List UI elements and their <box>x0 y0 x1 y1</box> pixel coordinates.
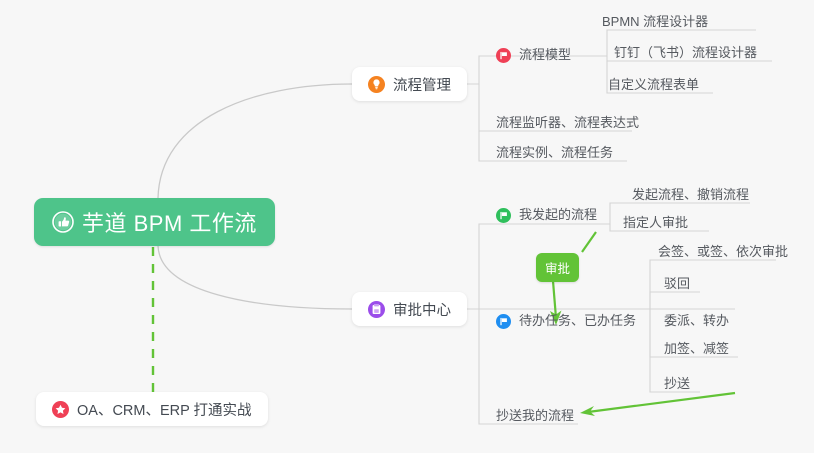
node-custom-form[interactable]: 自定义流程表单 <box>602 74 705 96</box>
node-todo-done-tasks[interactable]: 待办任务、已办任务 <box>490 310 642 332</box>
node-label: 流程监听器、流程表达式 <box>496 112 639 131</box>
node-label: 流程模型 <box>519 44 571 63</box>
node-label: 抄送 <box>664 373 690 392</box>
thumbs-up-icon <box>52 211 74 233</box>
flag-icon-blue <box>496 314 511 329</box>
root-node[interactable]: 芋道 BPM 工作流 <box>34 198 275 246</box>
node-label: 流程实例、流程任务 <box>496 142 613 161</box>
node-label: 加签、减签 <box>664 338 729 357</box>
node-add-remove-sign[interactable]: 加签、减签 <box>658 338 735 360</box>
node-label: 钉钉（飞书）流程设计器 <box>614 42 757 61</box>
node-label: 待办任务、已办任务 <box>519 310 636 329</box>
branch-approval-center[interactable]: 审批中心 <box>352 292 467 326</box>
mindmap-canvas[interactable]: 芋道 BPM 工作流 流程管理 流程模型 BPMN 流程设计器 钉钉（飞书）流程 <box>0 0 814 453</box>
node-reject[interactable]: 驳回 <box>658 273 696 295</box>
footer-node-integration[interactable]: OA、CRM、ERP 打通实战 <box>36 392 268 426</box>
link-root-to-process-management <box>158 84 352 198</box>
star-icon <box>52 401 69 418</box>
node-start-revoke[interactable]: 发起流程、撤销流程 <box>626 184 755 206</box>
node-cc-to-me-processes[interactable]: 抄送我的流程 <box>490 405 580 427</box>
lightbulb-icon <box>368 76 385 93</box>
node-label: 抄送我的流程 <box>496 405 574 424</box>
node-instance-task[interactable]: 流程实例、流程任务 <box>490 142 619 164</box>
node-label: 驳回 <box>664 273 690 292</box>
footer-node-label: OA、CRM、ERP 打通实战 <box>77 399 252 420</box>
node-label: 会签、或签、依次审批 <box>658 241 788 260</box>
node-delegate-transfer[interactable]: 委派、转办 <box>658 310 735 332</box>
node-process-model[interactable]: 流程模型 <box>490 44 577 66</box>
link-root-to-approval-center <box>158 246 352 309</box>
node-label: 我发起的流程 <box>519 204 597 223</box>
node-assignee-approve[interactable]: 指定人审批 <box>617 212 694 234</box>
node-listener-expression[interactable]: 流程监听器、流程表达式 <box>490 112 645 134</box>
node-bpmn-designer[interactable]: BPMN 流程设计器 <box>596 11 714 33</box>
green-arrow-cc-to-cc-mine <box>580 393 735 416</box>
approval-badge[interactable]: 审批 <box>536 253 579 282</box>
node-label: 指定人审批 <box>623 212 688 231</box>
node-dingtalk-designer[interactable]: 钉钉（飞书）流程设计器 <box>608 42 763 64</box>
node-sign-types[interactable]: 会签、或签、依次审批 <box>652 241 794 263</box>
link-todo-to-signtypes <box>636 260 776 309</box>
node-my-started-processes[interactable]: 我发起的流程 <box>490 204 603 226</box>
node-label: 发起流程、撤销流程 <box>632 184 749 203</box>
flag-icon-red <box>496 48 511 63</box>
branch-label: 审批中心 <box>393 299 451 320</box>
node-label: 委派、转办 <box>664 310 729 329</box>
clipboard-icon <box>368 301 385 318</box>
node-label: BPMN 流程设计器 <box>602 11 708 30</box>
flag-icon-green <box>496 208 511 223</box>
branch-label: 流程管理 <box>393 74 451 95</box>
node-label: 自定义流程表单 <box>608 74 699 93</box>
node-cc[interactable]: 抄送 <box>658 373 696 395</box>
branch-process-management[interactable]: 流程管理 <box>352 67 467 101</box>
root-label: 芋道 BPM 工作流 <box>82 206 257 238</box>
